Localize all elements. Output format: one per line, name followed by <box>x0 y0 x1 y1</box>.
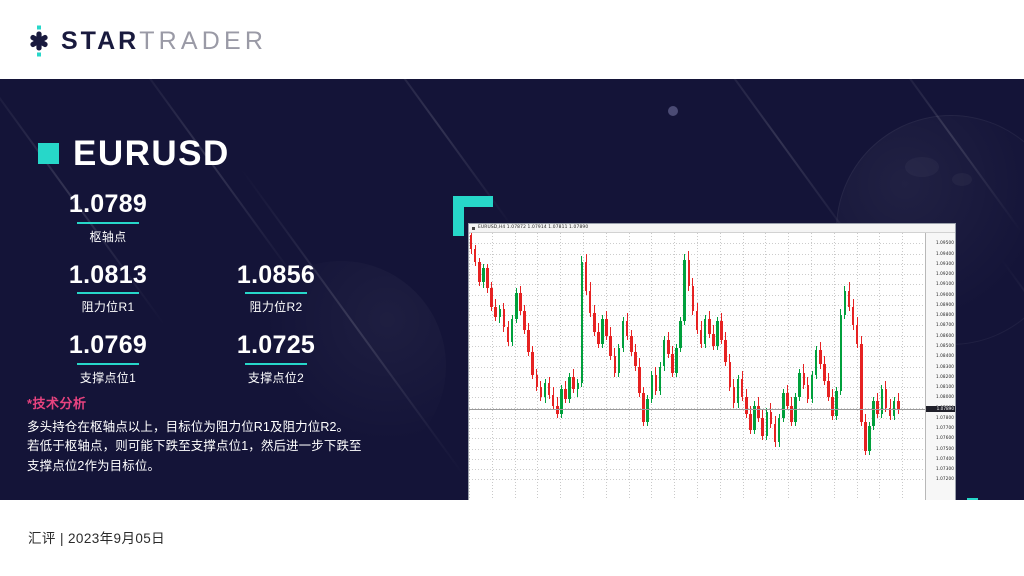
price-tick-label: 1.08000 <box>936 395 954 399</box>
chart-plot-area[interactable] <box>469 233 925 500</box>
price-tick-label: 1.07600 <box>936 436 954 440</box>
page-title: EURUSD <box>73 136 230 171</box>
level-s2: 1.0725 支撑点位2 <box>206 332 346 386</box>
level-r1: 1.0813 阻力位R1 <box>38 262 178 316</box>
level-pivot-value: 1.0789 <box>38 191 178 219</box>
price-tick-label: 1.08100 <box>936 385 954 389</box>
price-tick-label: 1.09200 <box>936 272 954 276</box>
price-tick-label: 1.09000 <box>936 293 954 297</box>
square-marker-icon <box>38 143 59 164</box>
bullet-icon <box>472 227 475 230</box>
analysis-line-2: 若低于枢轴点，则可能下跌至支撑点位1，然后进一步下跌至 <box>27 437 407 456</box>
price-tick-label: 1.07300 <box>936 467 954 471</box>
level-pivot-label: 枢轴点 <box>38 228 178 245</box>
level-underline <box>245 292 307 294</box>
level-underline <box>245 363 307 365</box>
spacer <box>178 332 206 386</box>
price-tick-label: 1.08200 <box>936 375 954 379</box>
symbol-title-row: EURUSD <box>38 136 230 171</box>
candlestick-series <box>469 233 925 500</box>
technical-analysis-block: *技术分析 多头持仓在枢轴点以上，目标位为阻力位R1及阻力位R2。 若低于枢轴点… <box>27 393 407 476</box>
level-pivot: 1.0789 枢轴点 <box>38 191 178 245</box>
brand-name-light: TRADER <box>139 27 267 55</box>
price-tick-label: 1.08700 <box>936 323 954 327</box>
level-r2-label: 阻力位R2 <box>206 298 346 315</box>
analysis-line-1: 多头持仓在枢轴点以上，目标位为阻力位R1及阻力位R2。 <box>27 418 407 437</box>
current-price-line <box>469 409 925 410</box>
analysis-line-3: 支撑点位2作为目标位。 <box>27 457 407 476</box>
level-underline <box>77 363 139 365</box>
footer-caption: 汇评 | 2023年9月05日 <box>28 527 165 547</box>
current-price-tag: 1.07890 <box>926 406 955 412</box>
brand-name-bold: STAR <box>61 27 139 55</box>
main-panel: EURUSD 1.0789 枢轴点 1.0813 阻力位R1 1.0856 阻力… <box>0 79 1024 500</box>
price-tick-label: 1.07400 <box>936 457 954 461</box>
level-s2-value: 1.0725 <box>206 332 346 360</box>
price-tick-label: 1.08600 <box>936 334 954 338</box>
price-tick-label: 1.08500 <box>936 344 954 348</box>
level-r2: 1.0856 阻力位R2 <box>206 262 346 316</box>
chart-titlebar: EURUSD,H4 1.07872 1.07914 1.07811 1.0789… <box>469 224 955 233</box>
level-s1: 1.0769 支撑点位1 <box>38 332 178 386</box>
price-tick-label: 1.07200 <box>936 477 954 481</box>
price-tick-label: 1.08400 <box>936 354 954 358</box>
price-tick-label: 1.08300 <box>936 365 954 369</box>
level-r1-value: 1.0813 <box>38 262 178 290</box>
page-header: STARTRADER <box>0 0 1024 79</box>
level-underline <box>77 222 139 224</box>
page-footer: 汇评 | 2023年9月05日 <box>0 500 1024 576</box>
level-r2-value: 1.0856 <box>206 262 346 290</box>
analysis-heading: *技术分析 <box>27 393 407 412</box>
price-tick-label: 1.09500 <box>936 241 954 245</box>
chart-title: EURUSD,H4 1.07872 1.07914 1.07811 1.0789… <box>478 226 588 230</box>
price-axis[interactable]: 1.095001.094001.093001.092001.091001.090… <box>925 233 955 500</box>
price-tick-label: 1.07700 <box>936 426 954 430</box>
price-tick-label: 1.07800 <box>936 416 954 420</box>
level-s1-value: 1.0769 <box>38 332 178 360</box>
price-tick-label: 1.09100 <box>936 282 954 286</box>
level-underline <box>77 292 139 294</box>
brand-logo[interactable]: STARTRADER <box>22 27 267 55</box>
levels-group: 1.0789 枢轴点 1.0813 阻力位R1 1.0856 阻力位R2 1.0… <box>38 191 378 386</box>
price-tick-label: 1.07500 <box>936 447 954 451</box>
asterisk-star-icon <box>22 24 56 58</box>
price-tick-label: 1.08800 <box>936 313 954 317</box>
price-tick-label: 1.08900 <box>936 303 954 307</box>
level-s2-label: 支撑点位2 <box>206 369 346 386</box>
price-tick-label: 1.09300 <box>936 262 954 266</box>
price-tick-label: 1.09400 <box>936 252 954 256</box>
level-s1-label: 支撑点位1 <box>38 369 178 386</box>
spacer <box>178 262 206 316</box>
chart-window[interactable]: EURUSD,H4 1.07872 1.07914 1.07811 1.0789… <box>468 223 956 500</box>
level-r1-label: 阻力位R1 <box>38 298 178 315</box>
